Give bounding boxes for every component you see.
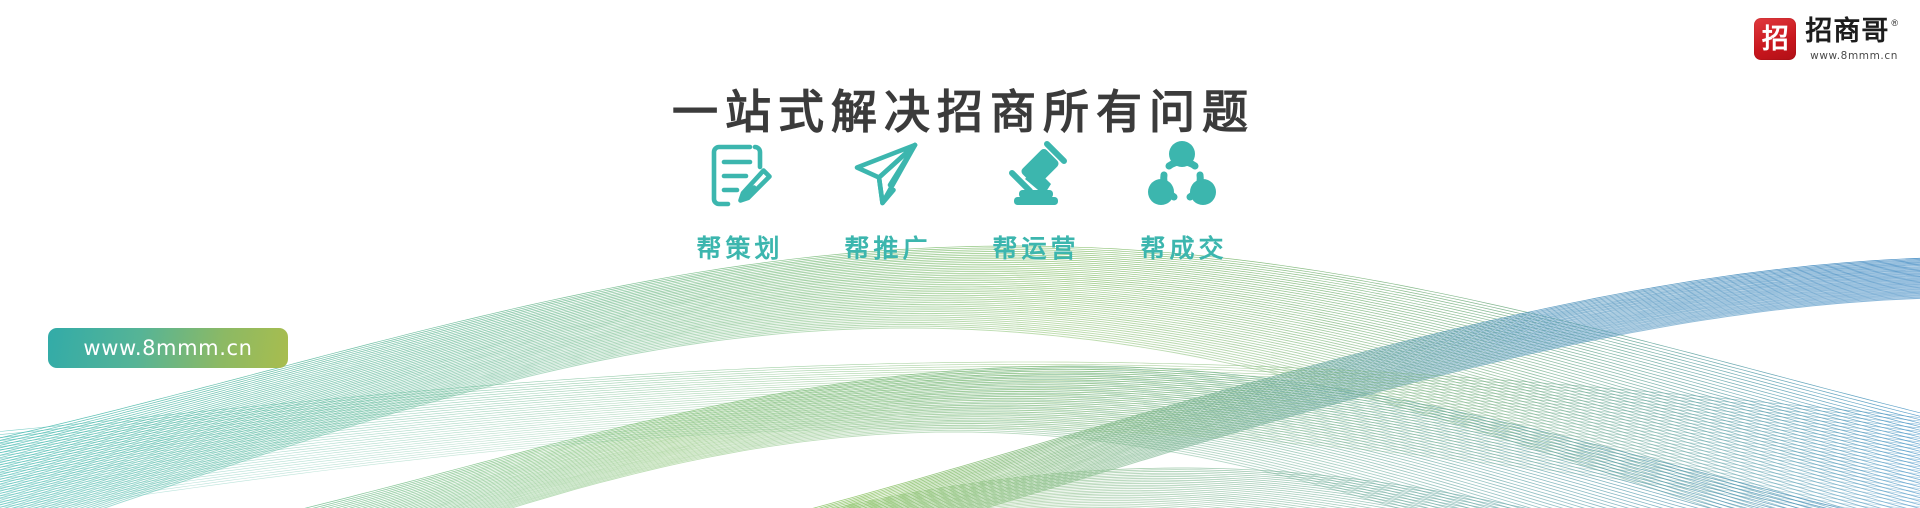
logo-url: www.8mmm.cn — [1810, 50, 1898, 62]
logo-mark: 招 — [1754, 18, 1796, 60]
page-title: 一站式解决招商所有问题 — [0, 87, 1920, 138]
feature-item-planning[interactable]: 帮策划 — [664, 134, 812, 261]
logo-text-group: 招商哥 ® www.8mmm.cn — [1805, 18, 1898, 62]
registered-trademark-icon: ® — [1891, 19, 1898, 28]
feature-label: 帮成交 — [1136, 236, 1227, 261]
paper-plane-icon — [846, 134, 926, 214]
brand-logo[interactable]: 招 招商哥 ® www.8mmm.cn — [1754, 18, 1898, 62]
feature-list: 帮策划 帮推广 — [0, 134, 1920, 261]
logo-mark-glyph: 招 — [1762, 26, 1789, 53]
share-network-icon — [1144, 134, 1220, 214]
logo-wordmark: 招商哥 — [1805, 18, 1889, 45]
logo-wordmark-row: 招商哥 ® — [1805, 18, 1898, 45]
website-url-text: www.8mmm.cn — [83, 338, 252, 359]
feature-item-closing[interactable]: 帮成交 — [1108, 134, 1256, 261]
feature-item-operation[interactable]: 帮运营 — [960, 134, 1108, 261]
feature-item-promotion[interactable]: 帮推广 — [812, 134, 960, 261]
feature-label: 帮运营 — [988, 236, 1079, 261]
feature-label: 帮策划 — [692, 236, 783, 261]
gavel-icon — [994, 134, 1074, 214]
feature-label: 帮推广 — [840, 236, 931, 261]
promo-banner: 招 招商哥 ® www.8mmm.cn 一站式解决招商所有问题 — [0, 0, 1920, 508]
document-pencil-icon — [701, 134, 775, 214]
website-url-badge[interactable]: www.8mmm.cn — [48, 328, 288, 368]
